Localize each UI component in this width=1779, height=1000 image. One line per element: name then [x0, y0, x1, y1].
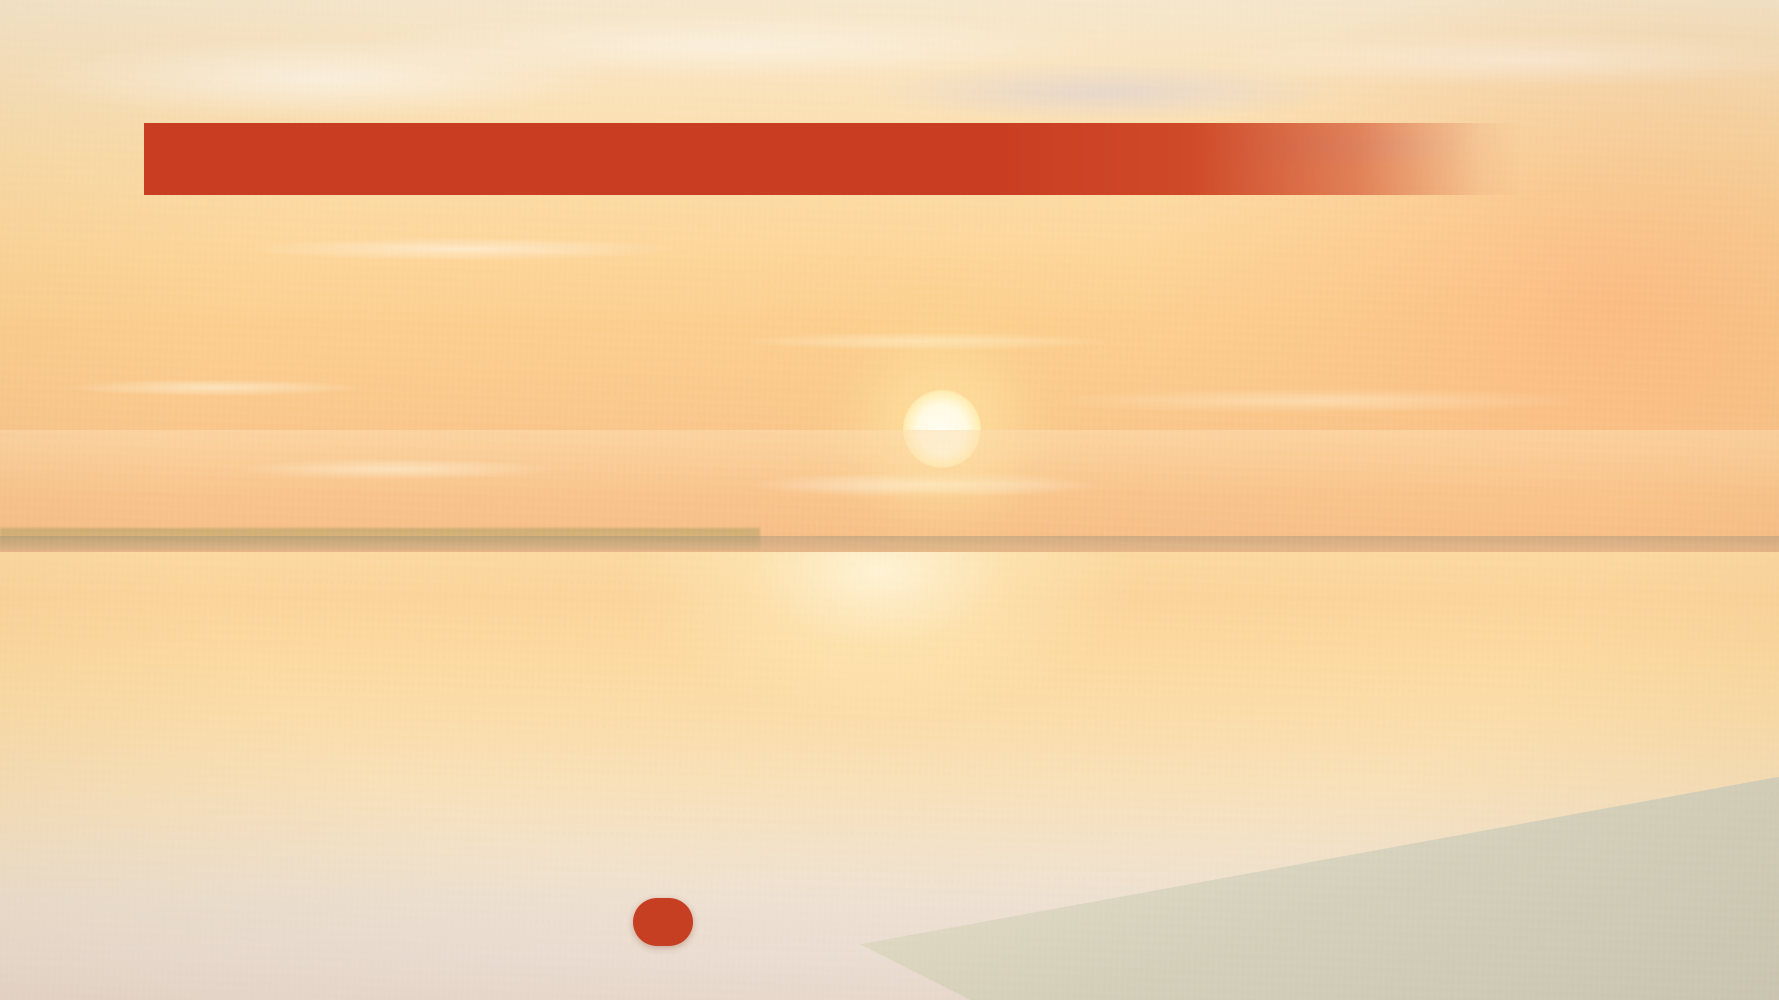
slogan-banner	[144, 123, 1522, 195]
poster-canvas	[0, 0, 1779, 1000]
credit-badge	[633, 898, 693, 946]
